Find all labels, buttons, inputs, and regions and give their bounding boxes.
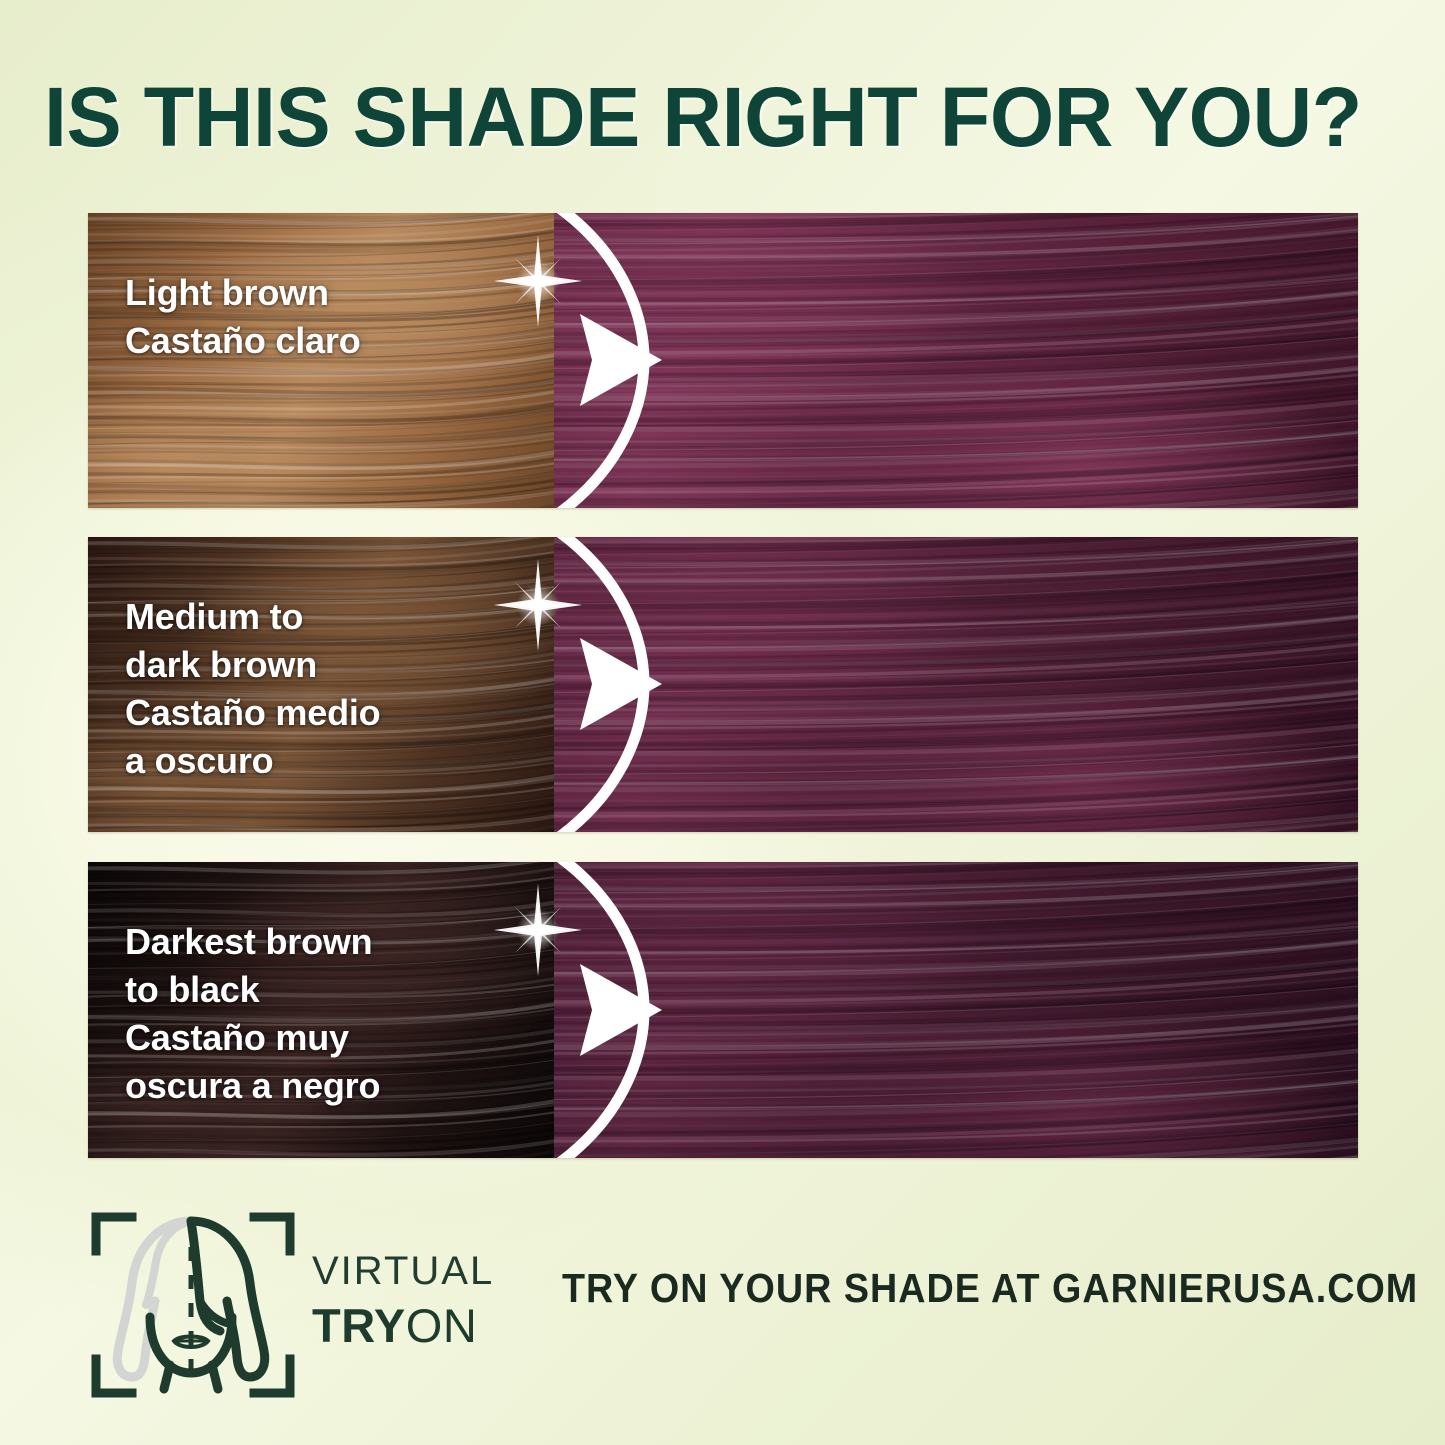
logo-line-virtual: VIRTUAL xyxy=(312,1251,494,1291)
footer: VIRTUAL TRYON TRY ON YOUR SHADE AT GARNI… xyxy=(88,1205,1378,1405)
footer-tagline: TRY ON YOUR SHADE AT GARNIERUSA.COM xyxy=(562,1265,1418,1312)
logo-word-try: TRY xyxy=(312,1299,406,1352)
logo-line-tryon: TRYON xyxy=(312,1302,494,1349)
shade-row: Light brown Castaño claro xyxy=(88,213,1358,508)
promo-image: IS THIS SHADE RIGHT FOR YOU? Light brown… xyxy=(0,0,1445,1445)
shade-label: Light brown Castaño claro xyxy=(125,269,360,365)
page-title: IS THIS SHADE RIGHT FOR YOU? xyxy=(44,74,1393,160)
logo-word-on: ON xyxy=(406,1299,478,1352)
shade-row: Darkest brown to black Castaño muy oscur… xyxy=(88,862,1358,1158)
shade-label: Medium to dark brown Castaño medio a osc… xyxy=(125,593,380,785)
virtual-tryon-wordmark: VIRTUAL TRYON xyxy=(312,1251,494,1349)
shade-row: Medium to dark brown Castaño medio a osc… xyxy=(88,537,1358,832)
face-scan-icon xyxy=(88,1205,298,1405)
shade-label: Darkest brown to black Castaño muy oscur… xyxy=(125,918,380,1110)
